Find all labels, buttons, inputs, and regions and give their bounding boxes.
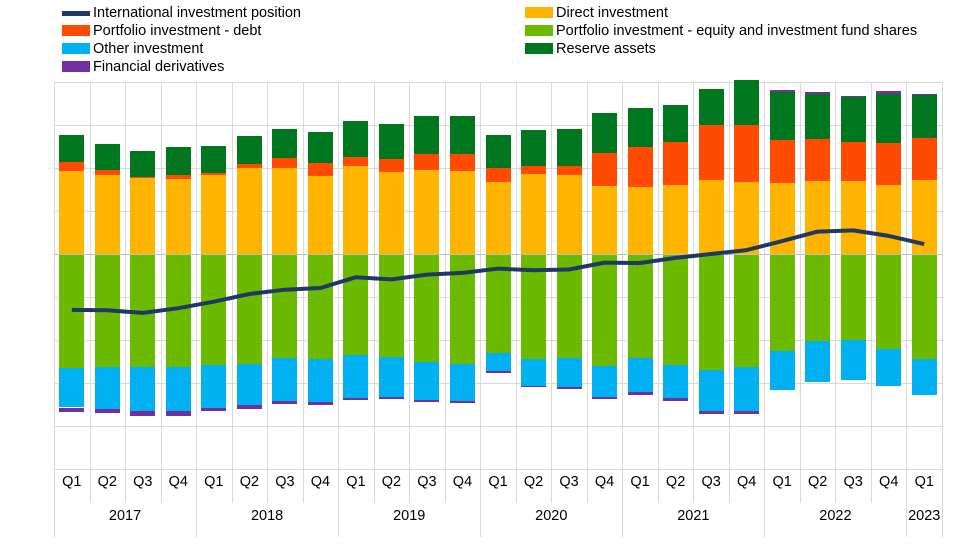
bar-stack[interactable] — [557, 82, 582, 469]
bar-segment — [663, 185, 688, 254]
legend-item-label: Portfolio investment - debt — [93, 24, 261, 38]
bar-segment — [343, 121, 368, 158]
bar-segment — [770, 140, 795, 183]
x-axis: Q1Q2Q3Q42017Q1Q2Q3Q42018Q1Q2Q3Q42019Q1Q2… — [54, 469, 942, 547]
gridline-vertical — [587, 82, 588, 469]
bar-segment — [628, 147, 653, 187]
x-axis-quarter-label: Q1 — [622, 474, 658, 490]
x-axis-year-separator — [338, 503, 339, 537]
bar-segment — [166, 175, 191, 179]
x-axis-year-label: 2019 — [338, 508, 480, 524]
bar-segment — [343, 166, 368, 254]
bar-segment — [557, 387, 582, 389]
bar-segment — [272, 254, 297, 358]
bar-stack[interactable] — [308, 82, 333, 469]
x-axis-quarter-label: Q1 — [54, 474, 90, 490]
square-swatch — [62, 61, 90, 72]
bar-segment — [912, 94, 937, 95]
square-swatch — [62, 25, 90, 36]
bar-segment — [841, 97, 866, 142]
bar-segment — [628, 254, 653, 358]
bar-segment — [272, 401, 297, 404]
bar-segment — [805, 139, 830, 181]
gridline-vertical — [764, 82, 765, 469]
bar-segment — [557, 254, 582, 358]
bar-segment — [805, 254, 830, 341]
legend-item[interactable]: International investment position — [62, 4, 301, 21]
x-axis-year-separator — [764, 503, 765, 537]
bar-segment — [734, 182, 759, 254]
x-axis-quarter-label: Q4 — [871, 474, 907, 490]
bar-segment — [912, 138, 937, 180]
x-axis-year-separator — [906, 503, 907, 537]
bar-segment — [343, 355, 368, 397]
bar-segment — [699, 254, 724, 370]
legend-column-left: International investment positionPortfol… — [62, 4, 301, 76]
x-axis-quarter-label: Q1 — [764, 474, 800, 490]
bar-segment — [237, 136, 262, 164]
gridline-vertical — [374, 82, 375, 469]
bar-stack[interactable] — [521, 82, 546, 469]
bar-segment — [628, 358, 653, 392]
bar-stack[interactable] — [95, 82, 120, 469]
legend-item-label: Other investment — [93, 42, 203, 56]
bar-stack[interactable] — [59, 82, 84, 469]
bar-segment — [557, 166, 582, 175]
bar-segment — [130, 254, 155, 367]
bar-segment — [450, 364, 475, 401]
x-axis-quarter-label: Q4 — [160, 474, 196, 490]
gridline-vertical — [267, 82, 268, 469]
bar-segment — [59, 368, 84, 408]
bar-stack[interactable] — [663, 82, 688, 469]
bar-stack[interactable] — [166, 82, 191, 469]
bar-segment — [414, 400, 439, 403]
gridline-vertical — [196, 82, 197, 469]
bar-segment — [450, 401, 475, 403]
bar-segment — [486, 182, 511, 254]
x-axis-quarter-label: Q4 — [302, 474, 338, 490]
x-axis-quarter-label: Q3 — [125, 474, 161, 490]
bar-segment — [201, 254, 226, 365]
gridline-vertical — [303, 82, 304, 469]
gridline-vertical — [942, 82, 943, 469]
legend-item[interactable]: Financial derivatives — [62, 58, 301, 75]
x-axis-quarter-label: Q3 — [551, 474, 587, 490]
bar-segment — [521, 130, 546, 166]
bar-segment — [912, 359, 937, 395]
bar-segment — [450, 254, 475, 364]
x-axis-quarter-label: Q3 — [693, 474, 729, 490]
line-swatch — [62, 11, 90, 16]
bar-segment — [272, 168, 297, 254]
x-axis-quarter-label: Q2 — [516, 474, 552, 490]
bar-segment — [414, 170, 439, 254]
legend-item[interactable]: Portfolio investment - debt — [62, 22, 301, 39]
bar-segment — [308, 132, 333, 163]
bar-stack[interactable] — [876, 82, 901, 469]
bar-segment — [770, 90, 795, 92]
bar-segment — [414, 154, 439, 169]
bar-segment — [166, 411, 191, 415]
bar-segment — [486, 353, 511, 371]
legend-item-label: Direct investment — [556, 6, 668, 20]
bar-segment — [272, 158, 297, 167]
bar-segment — [379, 124, 404, 159]
gridline-vertical — [551, 82, 552, 469]
bar-segment — [876, 185, 901, 254]
x-axis-year-separator — [54, 503, 55, 537]
bar-segment — [59, 135, 84, 162]
chart-legend: International investment positionPortfol… — [0, 0, 960, 72]
bar-segment — [237, 254, 262, 364]
bar-stack[interactable] — [379, 82, 404, 469]
bar-segment — [201, 173, 226, 176]
x-axis-quarter-label: Q1 — [480, 474, 516, 490]
bar-segment — [379, 159, 404, 172]
legend-item-label: Financial derivatives — [93, 60, 224, 74]
bar-stack[interactable] — [201, 82, 226, 469]
bar-segment — [379, 397, 404, 400]
bar-segment — [805, 94, 830, 139]
bar-segment — [912, 95, 937, 138]
bar-segment — [734, 125, 759, 181]
x-axis-quarter-label: Q1 — [338, 474, 374, 490]
gridline-vertical — [658, 82, 659, 469]
bar-segment — [486, 371, 511, 373]
bar-segment — [237, 405, 262, 408]
legend-item-label: International investment position — [93, 6, 301, 20]
bar-stack[interactable] — [450, 82, 475, 469]
bar-segment — [841, 181, 866, 254]
bar-segment — [592, 153, 617, 186]
x-axis-line — [54, 469, 942, 470]
gridline-vertical — [232, 82, 233, 469]
bar-segment — [130, 178, 155, 254]
gridline-vertical — [729, 82, 730, 469]
bar-segment — [59, 162, 84, 171]
bar-stack[interactable] — [628, 82, 653, 469]
bar-segment — [841, 340, 866, 380]
bar-segment — [770, 92, 795, 140]
bar-segment — [308, 359, 333, 402]
bar-segment — [95, 144, 120, 170]
bar-segment — [130, 411, 155, 415]
bar-segment — [130, 367, 155, 411]
bar-segment — [521, 166, 546, 175]
bar-segment — [592, 366, 617, 397]
bar-segment — [805, 92, 830, 93]
bar-segment — [343, 398, 368, 401]
bar-segment — [379, 172, 404, 254]
bar-segment — [876, 143, 901, 186]
bar-segment — [521, 174, 546, 254]
bar-segment — [699, 411, 724, 414]
zero-gridline — [54, 254, 942, 255]
bar-segment — [379, 254, 404, 357]
legend-item[interactable]: Portfolio investment - equity and invest… — [525, 22, 917, 39]
bar-segment — [450, 116, 475, 154]
bar-segment — [628, 108, 653, 147]
bar-segment — [557, 175, 582, 254]
bar-segment — [308, 176, 333, 254]
x-axis-year-label: 2017 — [54, 508, 196, 524]
bar-segment — [379, 357, 404, 397]
bar-segment — [237, 164, 262, 168]
bar-segment — [699, 125, 724, 179]
bar-segment — [876, 91, 901, 93]
x-axis-quarter-label: Q1 — [906, 474, 942, 490]
bar-segment — [166, 179, 191, 254]
bar-segment — [805, 341, 830, 382]
bar-segment — [201, 408, 226, 411]
bar-segment — [521, 386, 546, 388]
bar-segment — [130, 151, 155, 177]
bar-segment — [272, 129, 297, 158]
bar-segment — [486, 168, 511, 182]
gridline-vertical — [480, 82, 481, 469]
bar-segment — [95, 409, 120, 413]
legend-item[interactable]: Reserve assets — [525, 40, 917, 57]
x-axis-year-label: 2021 — [622, 508, 764, 524]
bar-stack[interactable] — [912, 82, 937, 469]
bar-segment — [805, 181, 830, 254]
bar-segment — [166, 254, 191, 367]
x-axis-quarter-label: Q4 — [729, 474, 765, 490]
gridline-vertical — [54, 82, 55, 469]
x-axis-quarter-label: Q3 — [267, 474, 303, 490]
legend-column-right: Direct investmentPortfolio investment - … — [525, 4, 917, 58]
legend-item-label: Reserve assets — [556, 42, 656, 56]
gridline-vertical — [409, 82, 410, 469]
bar-segment — [308, 402, 333, 405]
bar-segment — [272, 358, 297, 401]
bar-segment — [699, 89, 724, 125]
bar-segment — [166, 147, 191, 175]
bar-segment — [450, 154, 475, 172]
bar-segment — [592, 186, 617, 254]
x-axis-quarter-label: Q4 — [587, 474, 623, 490]
x-axis-year-label: 2020 — [480, 508, 622, 524]
bar-segment — [59, 254, 84, 368]
bar-segment — [557, 129, 582, 166]
bar-stack[interactable] — [414, 82, 439, 469]
bar-segment — [95, 170, 120, 175]
bar-segment — [414, 116, 439, 154]
gridline-vertical — [906, 82, 907, 469]
square-swatch — [525, 25, 553, 36]
bar-segment — [59, 408, 84, 413]
bar-segment — [201, 146, 226, 173]
bar-segment — [770, 254, 795, 351]
square-swatch — [62, 43, 90, 54]
bar-segment — [841, 254, 866, 340]
bar-segment — [95, 367, 120, 410]
square-swatch — [525, 7, 553, 18]
bar-segment — [912, 180, 937, 254]
bar-segment — [237, 364, 262, 406]
bar-stack[interactable] — [699, 82, 724, 469]
bar-segment — [734, 80, 759, 126]
bar-segment — [628, 392, 653, 394]
x-axis-quarter-label: Q3 — [835, 474, 871, 490]
bar-segment — [734, 411, 759, 414]
bar-segment — [912, 254, 937, 359]
bar-segment — [699, 370, 724, 411]
bar-segment — [663, 365, 688, 399]
bar-segment — [166, 367, 191, 411]
gridline-vertical — [516, 82, 517, 469]
bar-segment — [201, 175, 226, 254]
bar-segment — [130, 177, 155, 178]
gridline-vertical — [622, 82, 623, 469]
x-axis-quarter-label: Q2 — [373, 474, 409, 490]
x-axis-quarter-label: Q2 — [800, 474, 836, 490]
bar-segment — [521, 359, 546, 385]
bar-segment — [95, 175, 120, 254]
x-axis-year-label: 2023 — [906, 508, 942, 524]
bar-segment — [734, 367, 759, 411]
x-axis-quarter-label: Q2 — [231, 474, 267, 490]
bar-segment — [663, 105, 688, 142]
x-axis-year-separator — [480, 503, 481, 537]
bar-stack[interactable] — [486, 82, 511, 469]
bar-segment — [343, 157, 368, 166]
bar-segment — [414, 254, 439, 362]
bar-segment — [486, 254, 511, 353]
x-axis-year-separator — [196, 503, 197, 537]
bar-stack[interactable] — [841, 82, 866, 469]
bar-segment — [237, 168, 262, 254]
bar-stack[interactable] — [343, 82, 368, 469]
gridline-vertical — [800, 82, 801, 469]
bar-stack[interactable] — [770, 82, 795, 469]
bar-stack[interactable] — [805, 82, 830, 469]
bar-segment — [557, 358, 582, 387]
bar-segment — [841, 96, 866, 98]
plot-area — [54, 82, 942, 469]
gridline-vertical — [338, 82, 339, 469]
bar-segment — [95, 254, 120, 367]
legend-item-label: Portfolio investment - equity and invest… — [556, 24, 917, 38]
bar-segment — [486, 135, 511, 169]
legend-item[interactable]: Other investment — [62, 40, 301, 57]
x-axis-year-label: 2022 — [764, 508, 906, 524]
x-axis-year-label: 2018 — [196, 508, 338, 524]
bar-segment — [663, 398, 688, 400]
gridline-vertical — [445, 82, 446, 469]
bar-segment — [734, 254, 759, 367]
x-axis-quarter-label: Q3 — [409, 474, 445, 490]
bar-segment — [663, 142, 688, 185]
gridline-vertical — [871, 82, 872, 469]
bar-segment — [343, 254, 368, 355]
x-axis-quarter-label: Q2 — [89, 474, 125, 490]
bar-segment — [308, 254, 333, 359]
square-swatch — [525, 43, 553, 54]
x-axis-quarter-label: Q1 — [196, 474, 232, 490]
bar-segment — [770, 183, 795, 254]
bar-stack[interactable] — [237, 82, 262, 469]
bar-segment — [699, 180, 724, 254]
bar-segment — [592, 397, 617, 399]
bar-segment — [59, 171, 84, 254]
bar-segment — [876, 254, 901, 349]
gridline-vertical — [835, 82, 836, 469]
legend-item[interactable]: Direct investment — [525, 4, 917, 21]
bar-segment — [841, 142, 866, 181]
bar-stack[interactable] — [734, 82, 759, 469]
gridline-vertical — [90, 82, 91, 469]
bar-stack[interactable] — [130, 82, 155, 469]
bar-segment — [450, 171, 475, 254]
x-axis-quarter-label: Q2 — [658, 474, 694, 490]
bar-segment — [663, 254, 688, 365]
x-axis-quarter-label: Q4 — [444, 474, 480, 490]
bar-segment — [628, 187, 653, 254]
chart-root: International investment positionPortfol… — [0, 0, 960, 547]
bar-segment — [521, 254, 546, 359]
bar-segment — [876, 349, 901, 386]
bar-stack[interactable] — [272, 82, 297, 469]
gridline-vertical — [693, 82, 694, 469]
x-axis-year-separator — [622, 503, 623, 537]
bar-segment — [201, 365, 226, 408]
x-axis-year-separator — [942, 503, 943, 537]
bar-stack[interactable] — [592, 82, 617, 469]
bar-segment — [592, 254, 617, 366]
bar-segment — [770, 351, 795, 390]
gridline-vertical — [125, 82, 126, 469]
bar-segment — [876, 94, 901, 143]
bar-segment — [308, 163, 333, 175]
bar-segment — [414, 362, 439, 399]
bar-segment — [592, 113, 617, 153]
gridline-vertical — [161, 82, 162, 469]
